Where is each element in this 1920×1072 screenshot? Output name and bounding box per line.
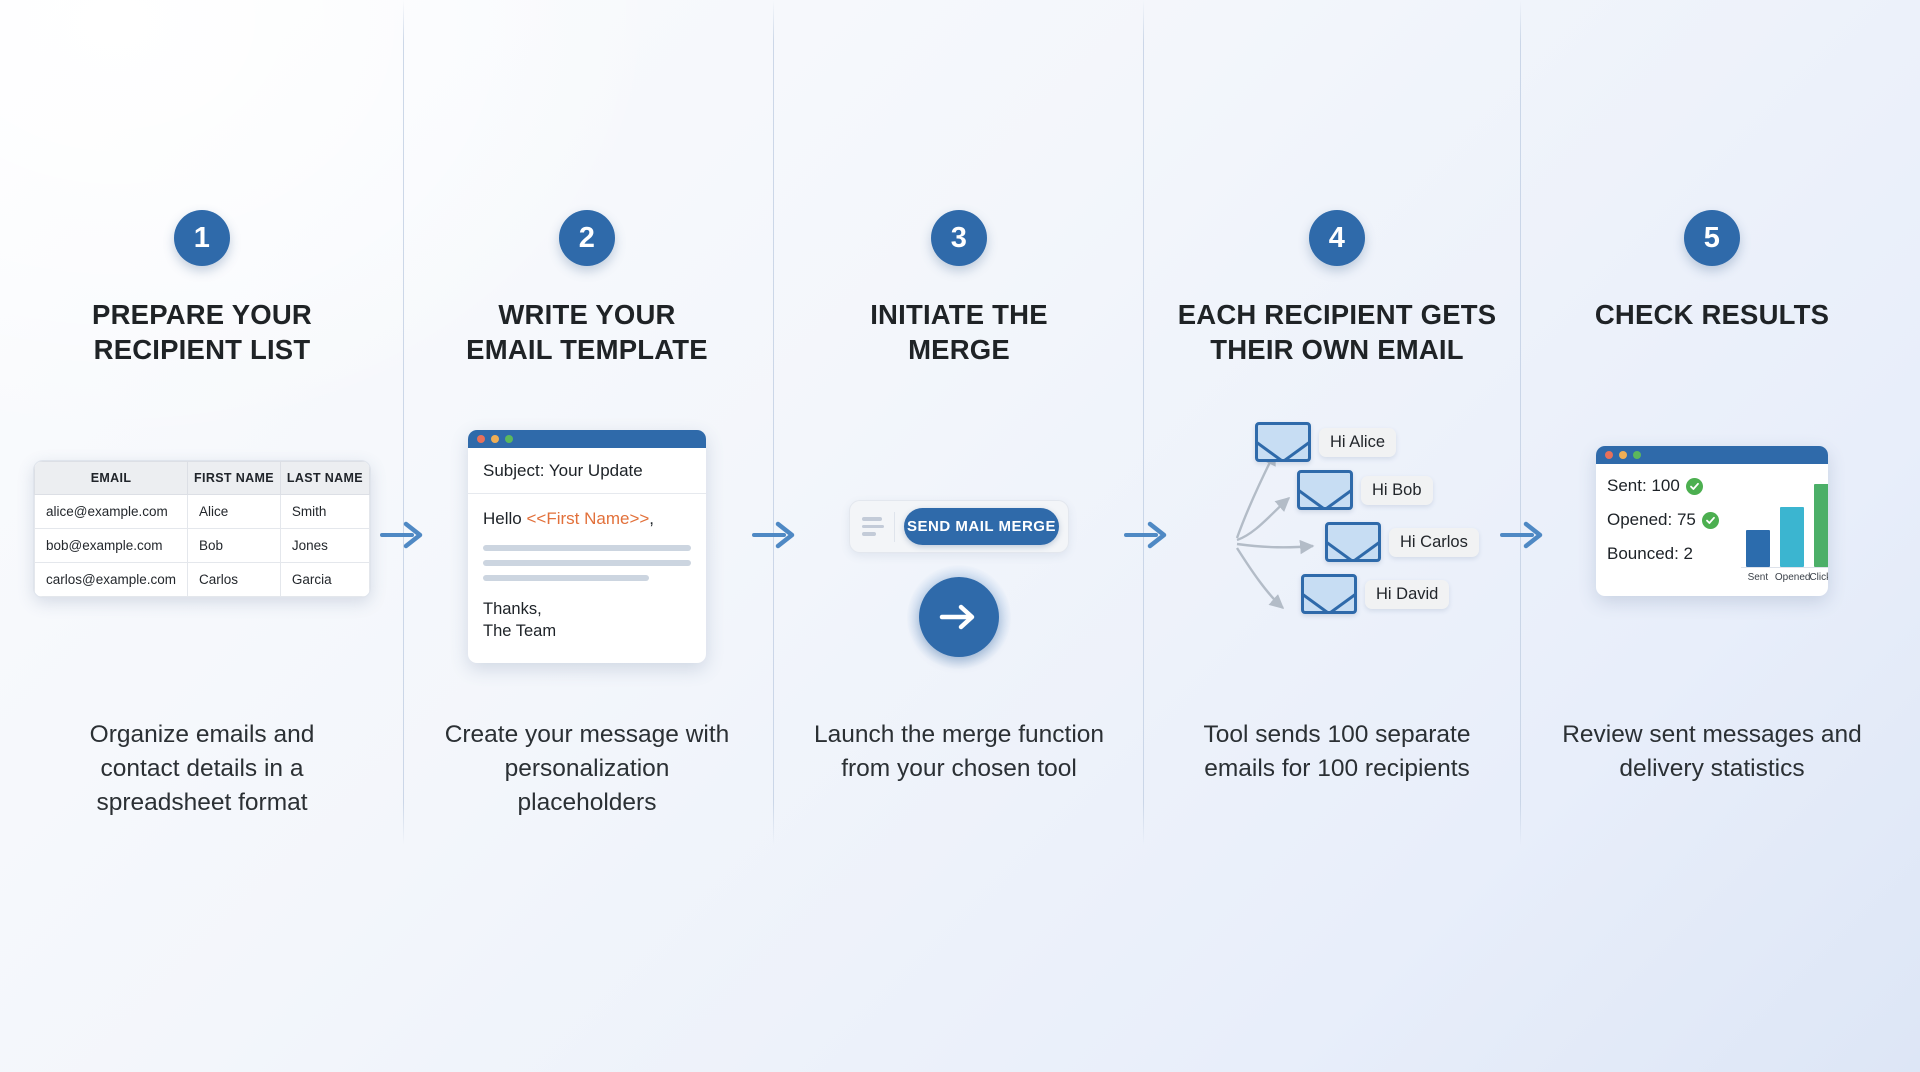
bar-sent [1746,530,1770,567]
step-heading-3: INITIATE THE MERGE [757,297,1161,367]
results-bar-chart: Sent Opened Clicked [1730,476,1828,583]
recipient-item: Hi David [1301,574,1449,614]
recipient-table: EMAIL FIRST NAME LAST NAME alice@example… [34,461,370,597]
step-heading-line2: THEIR OWN EMAIL [1135,332,1539,367]
stat-row-sent: Sent: 100 [1607,476,1719,496]
toolbar-divider [894,512,895,542]
step-description-1: Organize emails and contact details in a… [52,718,352,819]
recipient-item: Hi Carlos [1325,522,1479,562]
step-column-1: 1 PREPARE YOUR RECIPIENT LIST EMAIL FIRS… [0,0,404,1072]
step-heading-1: PREPARE YOUR RECIPIENT LIST [0,297,404,367]
step-description-5: Review sent messages and delivery statis… [1562,718,1862,786]
step-number-badge-2: 2 [559,210,615,266]
step-number-label: 3 [951,222,967,255]
envelope-icon [1297,470,1353,510]
x-tick-label: Opened [1775,572,1809,583]
step-heading-line1: INITIATE THE [757,297,1161,332]
chart-plot-area [1741,476,1828,568]
check-icon [1702,512,1719,529]
envelope-icon [1301,574,1357,614]
email-body: Hello <<First Name>>, Thanks, The Team [468,494,706,663]
cell-last-name: Smith [280,495,369,529]
step-description-2: Create your message with personalization… [437,718,737,819]
table-row: carlos@example.com Carlos Garcia [35,563,370,597]
chart-x-axis-labels: Sent Opened Clicked [1741,572,1828,583]
step-column-2: 2 WRITE YOUR EMAIL TEMPLATE Subject: You… [385,0,789,1072]
signoff-line1: Thanks, [483,599,691,621]
recipient-item: Hi Bob [1297,470,1433,510]
window-titlebar [468,430,706,448]
cell-last-name: Jones [280,529,369,563]
delivery-stats-list: Sent: 100 Opened: 75 Bounced: 2 [1607,476,1730,583]
stat-label: Sent: 100 [1607,476,1680,496]
envelope-icon [1325,522,1381,562]
step-description-4: Tool sends 100 separate emails for 100 r… [1187,718,1487,786]
step-visual-1: EMAIL FIRST NAME LAST NAME alice@example… [0,460,404,598]
step-number-label: 1 [194,222,210,255]
dashboard-body: Sent: 100 Opened: 75 Bounced: 2 [1596,464,1828,596]
x-tick-label: Sent [1741,572,1775,583]
step-heading-line2: EMAIL TEMPLATE [385,332,789,367]
window-minimize-dot[interactable] [491,435,499,443]
signoff-line2: The Team [483,621,691,643]
window-titlebar [1596,446,1828,464]
window-maximize-dot[interactable] [505,435,513,443]
email-signoff: Thanks, The Team [483,599,691,643]
recipient-greeting-bubble: Hi Carlos [1389,528,1479,557]
stat-label: Bounced: 2 [1607,544,1693,564]
recipient-item: Hi Alice [1255,422,1396,462]
step-column-3: 3 INITIATE THE MERGE SEND MAIL MERGE Lau… [757,0,1161,1072]
greeting-suffix: , [649,509,654,528]
table-row: alice@example.com Alice Smith [35,495,370,529]
cell-last-name: Garcia [280,563,369,597]
table-header-row: EMAIL FIRST NAME LAST NAME [35,462,370,495]
x-tick-label: Clicked [1809,572,1828,583]
cell-email: bob@example.com [35,529,188,563]
step-description-3: Launch the merge function from your chos… [809,718,1109,786]
step-heading-line1: EACH RECIPIENT GETS [1135,297,1539,332]
step-heading-line1: PREPARE YOUR [0,297,404,332]
merge-toolbar: SEND MAIL MERGE [849,500,1069,553]
body-text-line [483,560,691,566]
step-heading-2: WRITE YOUR EMAIL TEMPLATE [385,297,789,367]
step-number-label: 4 [1329,222,1345,255]
email-template-window: Subject: Your Update Hello <<First Name>… [468,430,706,663]
body-text-line [483,545,691,551]
step-number-badge-3: 3 [931,210,987,266]
results-dashboard-window: Sent: 100 Opened: 75 Bounced: 2 [1596,446,1828,596]
envelope-icon [1255,422,1311,462]
check-icon [1686,478,1703,495]
bar-opened [1780,507,1804,567]
step-heading-line2: RECIPIENT LIST [0,332,404,367]
launch-merge-button[interactable] [919,577,999,657]
recipient-greeting-bubble: Hi Alice [1319,428,1396,457]
cell-email: alice@example.com [35,495,188,529]
merge-launch-control[interactable] [907,565,1011,669]
step-heading-4: EACH RECIPIENT GETS THEIR OWN EMAIL [1135,297,1539,367]
window-close-dot[interactable] [1605,451,1613,459]
cell-first-name: Carlos [188,563,281,597]
recipient-greeting-bubble: Hi Bob [1361,476,1433,505]
send-mail-merge-button[interactable]: SEND MAIL MERGE [904,508,1059,545]
email-greeting: Hello <<First Name>>, [483,509,691,529]
table-header-email: EMAIL [35,462,188,495]
step-number-badge-1: 1 [174,210,230,266]
window-close-dot[interactable] [477,435,485,443]
merge-field-placeholder: <<First Name>> [526,509,649,528]
step-column-4: 4 EACH RECIPIENT GETS THEIR OWN EMAIL Hi… [1135,0,1539,1072]
stat-row-opened: Opened: 75 [1607,510,1719,530]
stat-row-bounced: Bounced: 2 [1607,544,1719,564]
table-row: bob@example.com Bob Jones [35,529,370,563]
step-heading-line1: WRITE YOUR [385,297,789,332]
step-column-5: 5 CHECK RESULTS Sent: 100 [1510,0,1914,1072]
cell-first-name: Alice [188,495,281,529]
step-number-label: 2 [579,222,595,255]
window-minimize-dot[interactable] [1619,451,1627,459]
body-text-line [483,575,649,581]
table-header-first-name: FIRST NAME [188,462,281,495]
recipient-spreadsheet: EMAIL FIRST NAME LAST NAME alice@example… [33,460,371,598]
arrow-right-icon [937,601,981,633]
cell-email: carlos@example.com [35,563,188,597]
recipient-greeting-bubble: Hi David [1365,580,1449,609]
step-heading-line2: MERGE [757,332,1161,367]
email-subject-line: Subject: Your Update [468,448,706,494]
cell-first-name: Bob [188,529,281,563]
step-heading-line1: CHECK RESULTS [1510,297,1914,332]
email-fanout-diagram: Hi Alice Hi Bob Hi Carlos Hi David [1167,418,1507,633]
step-visual-5: Sent: 100 Opened: 75 Bounced: 2 [1510,446,1914,596]
step-number-badge-5: 5 [1684,210,1740,266]
table-header-last-name: LAST NAME [280,462,369,495]
step-visual-4: Hi Alice Hi Bob Hi Carlos Hi David [1135,418,1539,633]
bar-clicked [1814,484,1828,567]
greeting-prefix: Hello [483,509,526,528]
stat-label: Opened: 75 [1607,510,1696,530]
hamburger-icon[interactable] [859,517,885,536]
step-visual-2: Subject: Your Update Hello <<First Name>… [385,430,789,663]
step-number-badge-4: 4 [1309,210,1365,266]
step-visual-3: SEND MAIL MERGE [757,500,1161,669]
step-heading-5: CHECK RESULTS [1510,297,1914,332]
step-number-label: 5 [1704,222,1720,255]
window-maximize-dot[interactable] [1633,451,1641,459]
